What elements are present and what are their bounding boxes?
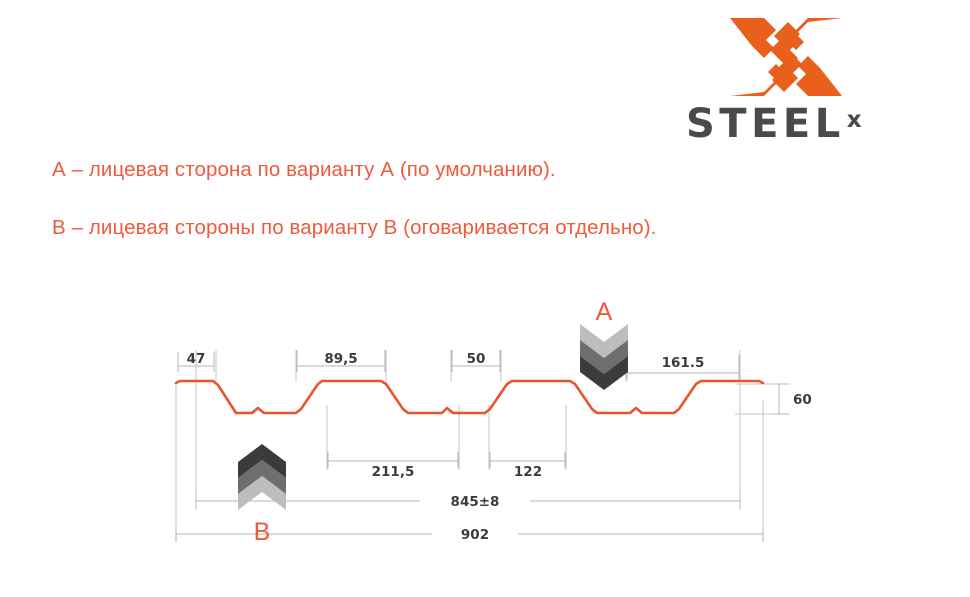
dim-161-5: 161.5 bbox=[627, 355, 739, 380]
marker-a-letter: А bbox=[596, 298, 613, 326]
dim-211-5-label: 211,5 bbox=[372, 464, 415, 480]
corrugated-profile-path bbox=[176, 381, 763, 413]
dim-50: 50 bbox=[452, 350, 500, 372]
chevron-triple-down-icon bbox=[580, 324, 628, 390]
dim-122: 122 bbox=[490, 452, 565, 480]
dim-47-label: 47 bbox=[187, 351, 206, 367]
dim-161-5-label: 161.5 bbox=[662, 355, 705, 371]
dim-89-5-label: 89,5 bbox=[324, 351, 357, 367]
dim-122-label: 122 bbox=[514, 464, 542, 480]
marker-a: А bbox=[580, 298, 628, 390]
marker-b-letter: В bbox=[254, 518, 271, 546]
chevron-triple-up-icon bbox=[238, 444, 286, 510]
dim-845-label: 845±8 bbox=[451, 494, 500, 510]
profile-drawing: 47 89,5 50 161.5 60 bbox=[0, 0, 970, 597]
dim-50-label: 50 bbox=[467, 351, 486, 367]
dim-60: 60 bbox=[772, 384, 812, 414]
marker-b: В bbox=[238, 444, 286, 546]
dim-60-label: 60 bbox=[793, 392, 812, 408]
dim-211-5: 211,5 bbox=[328, 452, 458, 480]
dim-902-label: 902 bbox=[461, 527, 489, 543]
dim-89-5: 89,5 bbox=[297, 350, 385, 372]
